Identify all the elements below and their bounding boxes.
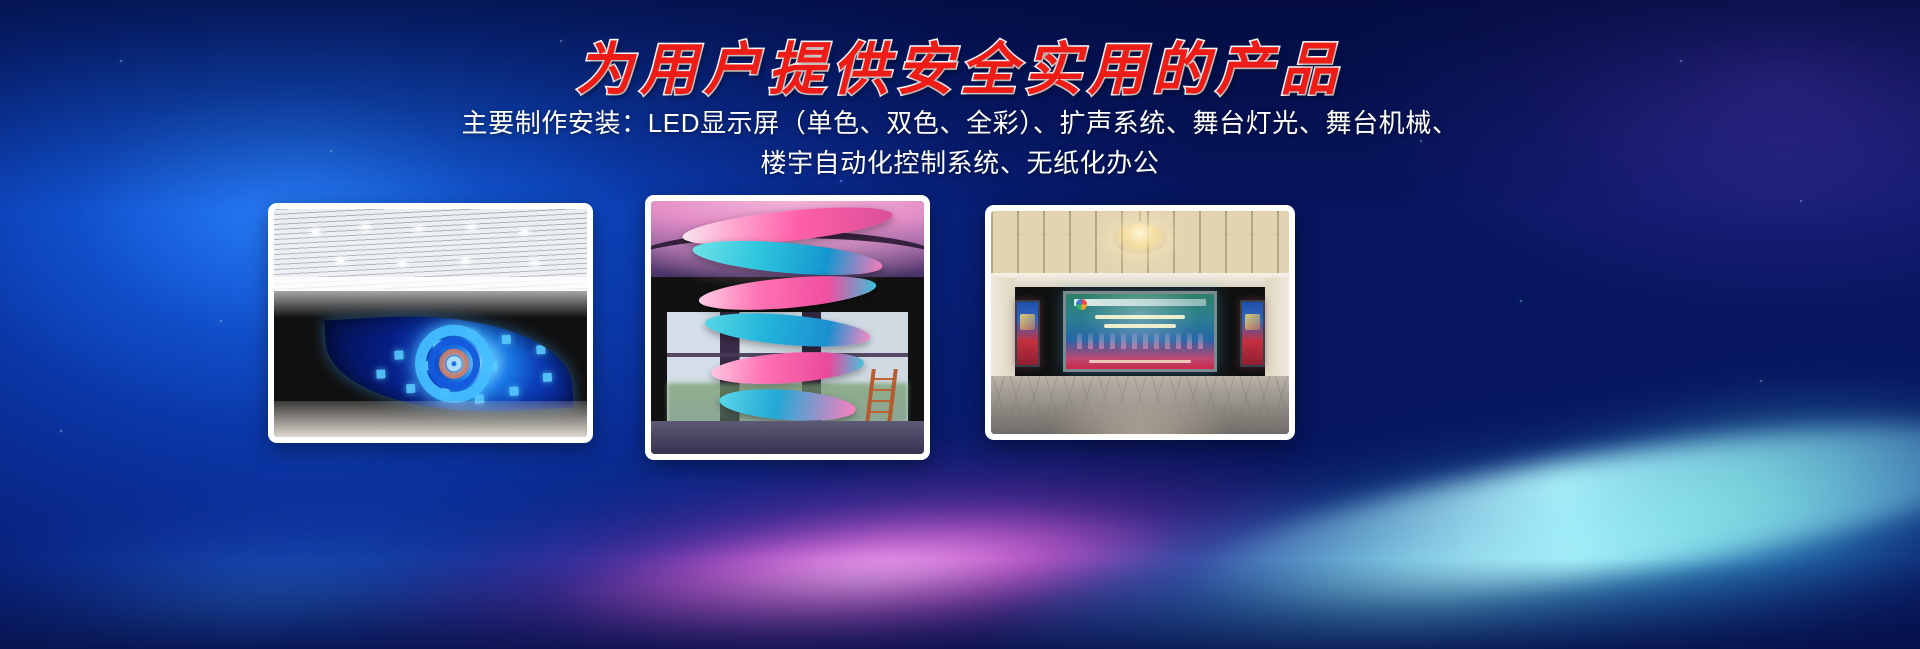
chandelier: [1113, 224, 1167, 254]
chandelier-rod: [1139, 211, 1141, 221]
photo-card-spiral-led-display[interactable]: [645, 195, 930, 460]
photo-card-conference-hall-led-screen[interactable]: [985, 205, 1295, 440]
screen-text-line: [1104, 324, 1175, 328]
spiral-led-bands: [684, 206, 891, 439]
side-led-panel-left: [1015, 300, 1040, 367]
spiral-band: [704, 308, 872, 352]
screen-logo-icon: [1076, 299, 1087, 310]
screen-text-line: [1095, 315, 1184, 319]
ceiling-cornice: [991, 273, 1289, 286]
spiral-band: [710, 347, 865, 388]
photo-conference-hall-led-screen: [991, 211, 1289, 434]
screen-header-bar: [1074, 299, 1205, 306]
wall-left: [991, 278, 1015, 381]
spiral-band: [718, 385, 857, 424]
banner-content: 为用户提供安全实用的产品 主要制作安装：LED显示屏（单色、双色、全彩）、扩声系…: [0, 0, 1920, 649]
spiral-band: [697, 270, 877, 315]
wall-right: [1265, 278, 1289, 381]
screen-footer-text: [1089, 360, 1190, 363]
main-led-screen: [1063, 291, 1218, 371]
side-led-panel-right: [1240, 300, 1265, 367]
spiral-band: [691, 235, 884, 282]
floor-reflection: [1045, 380, 1236, 434]
photo-gallery: [0, 0, 1920, 649]
floor: [274, 401, 587, 437]
photo-spiral-led-display: [651, 201, 924, 454]
screen-red-ribbon-graphic: [1066, 340, 1215, 368]
led-product-banner: 为用户提供安全实用的产品 主要制作安装：LED显示屏（单色、双色、全彩）、扩声系…: [0, 0, 1920, 649]
photo-card-eye-shaped-led-display[interactable]: [268, 203, 593, 443]
photo-eye-shaped-led-display: [274, 209, 587, 437]
floor: [651, 421, 924, 454]
